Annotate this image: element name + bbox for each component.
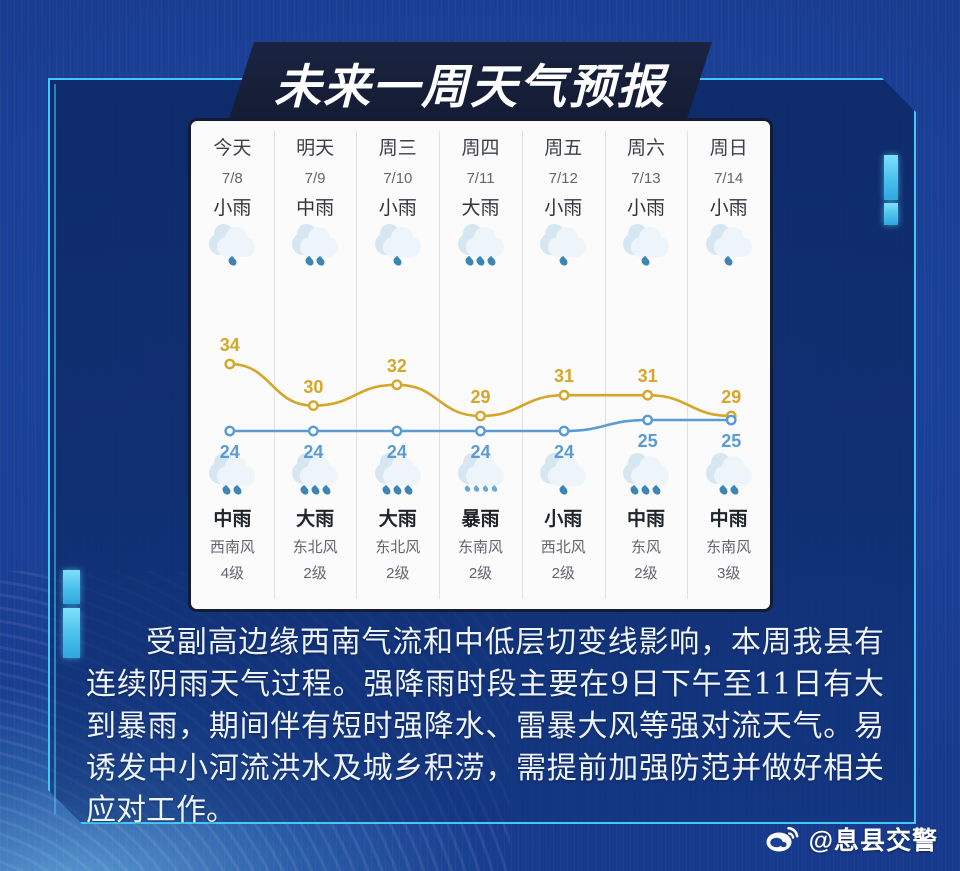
decor-bar-left-upper <box>63 570 80 604</box>
weibo-handle: @息县交警 <box>809 821 938 857</box>
daytime-condition: 小雨 <box>627 199 665 218</box>
raindrop-icon <box>475 256 486 267</box>
wind-direction: 东南风 <box>706 540 751 555</box>
raindrop-icon <box>486 256 497 267</box>
raindrop-icon <box>381 485 392 496</box>
daytime-condition: 大雨 <box>462 199 500 218</box>
raindrop-icon <box>232 485 243 496</box>
weather-icon-day <box>201 230 263 272</box>
raindrop-icon <box>481 485 489 493</box>
day-name: 今天 <box>213 139 251 158</box>
raindrop-icon <box>718 485 729 496</box>
wind-level: 2级 <box>469 566 492 581</box>
day-date: 7/8 <box>222 171 243 186</box>
raindrops <box>367 257 429 266</box>
wind-level: 2级 <box>386 566 409 581</box>
cloud-shape-front <box>300 466 338 486</box>
forecast-day-column[interactable]: 明天7/9中雨大雨东北风2级 <box>274 121 357 609</box>
forecast-day-column[interactable]: 周四7/11大雨暴雨东南风2级 <box>439 121 522 609</box>
night-condition: 中雨 <box>213 510 251 529</box>
raindrop-icon <box>463 485 471 493</box>
wind-direction: 西南风 <box>210 540 255 555</box>
forecast-day-column[interactable]: 周三7/10小雨大雨东北风2级 <box>356 121 439 609</box>
raindrops <box>201 486 263 495</box>
cloud-shape-front <box>217 466 255 486</box>
night-condition: 暴雨 <box>462 510 500 529</box>
decor-bar-right-lower <box>884 203 898 225</box>
raindrop-icon <box>464 256 475 267</box>
forecast-description: 受副高边缘西南气流和中低层切变线影响，本周我县有连续阴雨天气过程。强降雨时段主要… <box>86 622 884 832</box>
raindrop-icon <box>298 485 309 496</box>
daytime-condition: 小雨 <box>710 199 748 218</box>
weibo-icon <box>766 825 800 853</box>
forecast-day-column[interactable]: 周日7/14小雨中雨东南风3级 <box>687 121 770 609</box>
day-date: 7/12 <box>549 171 578 186</box>
raindrops <box>532 486 594 495</box>
wind-direction: 东南风 <box>458 540 503 555</box>
forecast-day-column[interactable]: 今天7/8小雨中雨西南风4级 <box>191 121 274 609</box>
day-name: 明天 <box>296 139 334 158</box>
raindrops <box>450 257 512 266</box>
weather-icon-night <box>698 459 760 501</box>
weather-icon-day <box>698 230 760 272</box>
wind-level: 3级 <box>717 566 740 581</box>
raindrops <box>450 486 512 492</box>
raindrop-icon <box>392 256 403 267</box>
weather-icon-night <box>615 459 677 501</box>
raindrop-icon <box>320 485 331 496</box>
wind-direction: 东北风 <box>293 540 338 555</box>
raindrop-icon <box>640 485 651 496</box>
forecast-day-column[interactable]: 周五7/12小雨小雨西北风2级 <box>522 121 605 609</box>
wind-direction: 东北风 <box>375 540 420 555</box>
raindrops <box>698 257 760 266</box>
weather-icon-day <box>615 230 677 272</box>
cloud-shape-front <box>548 237 586 257</box>
decor-bar-left-lower <box>63 608 80 658</box>
raindrop-icon <box>472 485 480 493</box>
raindrop-icon <box>490 485 498 493</box>
wind-level: 2级 <box>303 566 326 581</box>
cloud-shape-front <box>466 237 504 257</box>
cloud-shape-front <box>300 237 338 257</box>
raindrops <box>201 257 263 266</box>
raindrops <box>532 257 594 266</box>
night-condition: 中雨 <box>710 510 748 529</box>
night-condition: 中雨 <box>627 510 665 529</box>
cloud-shape-front <box>631 466 669 486</box>
raindrop-icon <box>729 485 740 496</box>
day-name: 周三 <box>379 139 417 158</box>
day-date: 7/9 <box>305 171 326 186</box>
day-date: 7/13 <box>631 171 660 186</box>
weather-icon-night <box>532 459 594 501</box>
raindrop-icon <box>304 256 315 267</box>
cloud-shape-front <box>548 466 586 486</box>
cloud-shape-front <box>714 237 752 257</box>
night-condition: 大雨 <box>296 510 334 529</box>
wind-level: 2级 <box>634 566 657 581</box>
cloud-shape-front <box>217 237 255 257</box>
raindrop-icon <box>629 485 640 496</box>
raindrop-icon <box>651 485 662 496</box>
raindrop-icon <box>640 256 651 267</box>
raindrops <box>615 257 677 266</box>
weather-icon-day <box>284 230 346 272</box>
weather-icon-day <box>367 230 429 272</box>
forecast-day-column[interactable]: 周六7/13小雨中雨东风2级 <box>605 121 688 609</box>
day-date: 7/10 <box>383 171 412 186</box>
raindrops <box>284 486 346 495</box>
weather-icon-night <box>284 459 346 501</box>
day-date: 7/11 <box>466 171 494 186</box>
raindrop-icon <box>558 256 569 267</box>
cloud-shape-front <box>631 237 669 257</box>
night-condition: 小雨 <box>544 510 582 529</box>
raindrop-icon <box>723 256 734 267</box>
raindrop-icon <box>221 485 232 496</box>
weather-forecast-poster: 未来一周天气预报 今天7/8小雨中雨西南风4级明天7/9中雨大雨东北风2级周三7… <box>0 0 960 871</box>
wind-level: 2级 <box>552 566 575 581</box>
day-name: 周四 <box>462 139 500 158</box>
raindrops <box>367 486 429 495</box>
wind-direction: 西北风 <box>541 540 586 555</box>
raindrops <box>615 486 677 495</box>
day-name: 周六 <box>627 139 665 158</box>
decor-bar-right-upper <box>884 155 898 200</box>
weather-icon-night <box>367 459 429 501</box>
daytime-condition: 中雨 <box>296 199 334 218</box>
night-condition: 大雨 <box>379 510 417 529</box>
raindrop-icon <box>558 485 569 496</box>
day-name: 周五 <box>544 139 582 158</box>
weibo-watermark: @息县交警 <box>766 821 938 857</box>
weather-icon-day <box>450 230 512 272</box>
wind-level: 4级 <box>221 566 244 581</box>
wind-direction: 东风 <box>631 540 661 555</box>
day-name: 周日 <box>710 139 748 158</box>
page-title: 未来一周天气预报 <box>228 42 712 122</box>
raindrop-icon <box>309 485 320 496</box>
daytime-condition: 小雨 <box>379 199 417 218</box>
day-date: 7/14 <box>714 171 743 186</box>
raindrop-icon <box>227 256 238 267</box>
raindrops <box>284 257 346 266</box>
raindrops <box>698 486 760 495</box>
raindrop-icon <box>392 485 403 496</box>
cloud-shape-front <box>383 466 421 486</box>
weather-icon-day <box>532 230 594 272</box>
weather-icon-night <box>450 459 512 501</box>
cloud-shape-front <box>466 466 504 486</box>
raindrop-icon <box>403 485 414 496</box>
daytime-condition: 小雨 <box>544 199 582 218</box>
cloud-shape-front <box>383 237 421 257</box>
daytime-condition: 小雨 <box>213 199 251 218</box>
raindrop-icon <box>315 256 326 267</box>
forecast-card: 今天7/8小雨中雨西南风4级明天7/9中雨大雨东北风2级周三7/10小雨大雨东北… <box>188 118 773 612</box>
weather-icon-night <box>201 459 263 501</box>
cloud-shape-front <box>714 466 752 486</box>
